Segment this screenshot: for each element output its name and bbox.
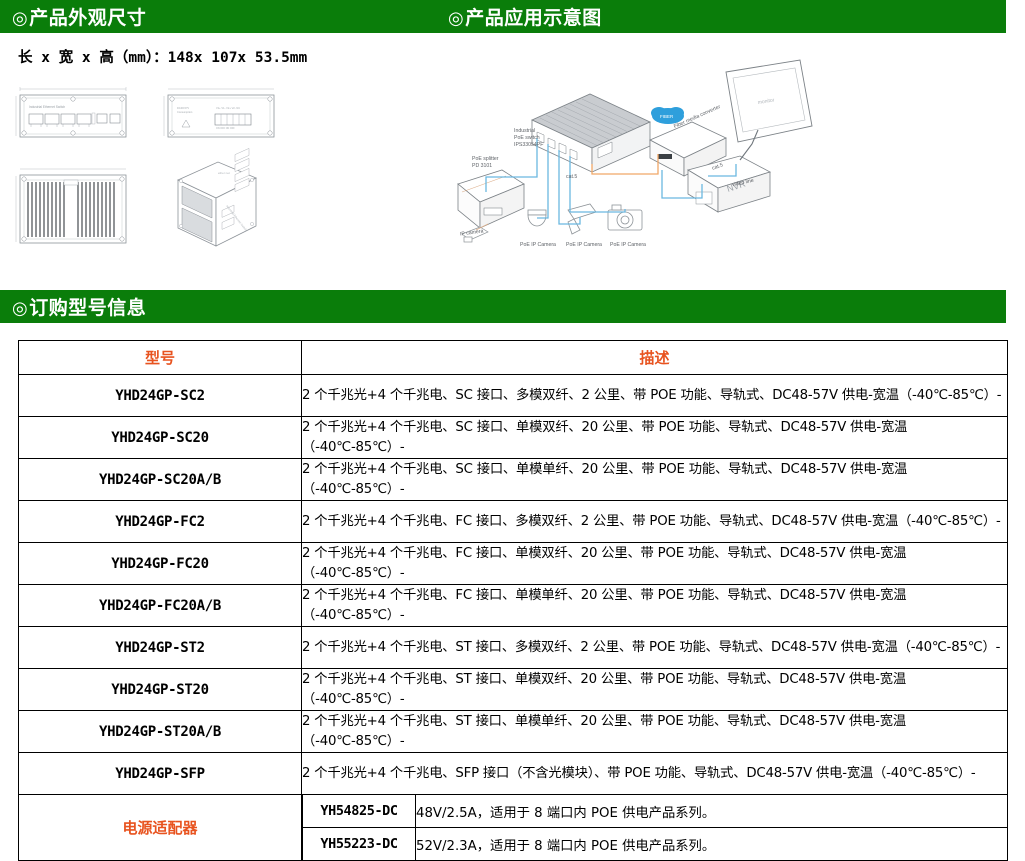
cell-model: YHD24GP-ST20A/B: [19, 711, 302, 753]
adapter-subtable: YH54825-DC 48V/2.5A，适用于 8 端口内 POE 供电产品系列…: [302, 795, 1007, 860]
cell-desc: 2 个千兆光+4 个千兆电、ST 接口、多模双纤、2 公里、带 POE 功能、导…: [302, 627, 1008, 669]
cell-model: YHD24GP-SC2: [19, 375, 302, 417]
cell-desc: 2 个千兆光+4 个千兆电、FC 接口、多模双纤、2 公里、带 POE 功能、导…: [302, 501, 1008, 543]
cell-adapter-model: YH54825-DC: [303, 795, 416, 828]
cell-model: YHD24GP-SFP: [19, 753, 302, 795]
svg-text:Industrial Ethernet Switch: Industrial Ethernet Switch: [29, 105, 65, 109]
table-row: YHD24GP-SFP2 个千兆光+4 个千兆电、SFP 接口（不含光模块）、带…: [19, 753, 1008, 795]
front-view-drawing: Industrial Ethernet Switch: [12, 84, 132, 146]
cell-model: YHD24GP-ST2: [19, 627, 302, 669]
svg-text:FIBER: FIBER: [660, 114, 674, 119]
adapter-row: YH54825-DC 48V/2.5A，适用于 8 端口内 POE 供电产品系列…: [303, 795, 1008, 828]
cell-desc: 2 个千兆光+4 个千兆电、SC 接口、多模双纤、2 公里、带 POE 功能、导…: [302, 375, 1008, 417]
table-row: YHD24GP-ST22 个千兆光+4 个千兆电、ST 接口、多模双纤、2 公里…: [19, 627, 1008, 669]
cell-model: YHD24GP-SC20A/B: [19, 459, 302, 501]
product-drawings: Industrial Ethernet Switch DC48-57V Cons…: [12, 84, 280, 252]
cell-model: YHD24GP-FC20A/B: [19, 585, 302, 627]
application-topology-svg: FIBER monitor: [440, 52, 860, 257]
cell-desc: 2 个千兆光+4 个千兆电、SC 接口、单模单纤、20 公里、带 POE 功能、…: [302, 459, 1008, 501]
cell-model: YHD24GP-FC2: [19, 501, 302, 543]
svg-text:V1+ V1- V2+ V2- NC: V1+ V1- V2+ V2- NC: [216, 106, 240, 110]
table-row-adapter: 电源适配器 YH54825-DC 48V/2.5A，适用于 8 端口内 POE …: [19, 795, 1008, 861]
cell-adapter-desc: 48V/2.5A，适用于 8 端口内 POE 供电产品系列。: [416, 795, 1008, 828]
cell-adapter-desc: 52V/2.3A，适用于 8 端口内 POE 供电产品系列。: [416, 828, 1008, 861]
diagram-label-camera2: PoE IP Camera: [566, 242, 602, 248]
cell-adapter-label: 电源适配器: [19, 795, 302, 861]
table-row: YHD24GP-FC202 个千兆光+4 个千兆电、FC 接口、单模双纤、20 …: [19, 543, 1008, 585]
svg-text:ether net: ether net: [218, 171, 230, 175]
column-header-model: 型号: [19, 341, 302, 375]
ring-icon: ◎: [448, 8, 464, 29]
table-row: YHD24GP-SC22 个千兆光+4 个千兆电、SC 接口、多模双纤、2 公里…: [19, 375, 1008, 417]
poe-switch-shape: [532, 94, 650, 172]
table-header-row: 型号 描述: [19, 341, 1008, 375]
table-row: YHD24GP-FC20A/B2 个千兆光+4 个千兆电、FC 接口、单模单纤、…: [19, 585, 1008, 627]
svg-text:ON OFF ON OFF: ON OFF ON OFF: [216, 127, 235, 130]
cell-desc: 2 个千兆光+4 个千兆电、SC 接口、单模双纤、20 公里、带 POE 功能、…: [302, 417, 1008, 459]
ordering-table-wrapper: 型号 描述 YHD24GP-SC22 个千兆光+4 个千兆电、SC 接口、多模双…: [18, 340, 1008, 861]
table-row: YHD24GP-SC20A/B2 个千兆光+4 个千兆电、SC 接口、单模单纤、…: [19, 459, 1008, 501]
section-title-ordering-label: 订购型号信息: [29, 297, 146, 319]
table-row: YHD24GP-FC22 个千兆光+4 个千兆电、FC 接口、多模双纤、2 公里…: [19, 501, 1008, 543]
rear-view-drawing: DC48-57V Consumption V1+ V1- V2+ V2- NC …: [160, 84, 280, 146]
diagram-label-pd3101: PD 3101: [472, 163, 492, 169]
cell-desc: 2 个千兆光+4 个千兆电、ST 接口、单模双纤、20 公里、带 POE 功能、…: [302, 669, 1008, 711]
column-header-desc: 描述: [302, 341, 1008, 375]
ordering-table: 型号 描述 YHD24GP-SC22 个千兆光+4 个千兆电、SC 接口、多模双…: [18, 340, 1008, 861]
cell-adapter-model: YH55223-DC: [303, 828, 416, 861]
adapter-row: YH55223-DC 52V/2.3A，适用于 8 端口内 POE 供电产品系列…: [303, 828, 1008, 861]
svg-text:Consumption: Consumption: [177, 110, 193, 114]
diagram-label-poe-switch: PoE switch: [514, 135, 540, 141]
svg-text:DC48-57V: DC48-57V: [177, 106, 189, 110]
diagram-label-model: IPS33054PF: [514, 142, 543, 148]
diagram-label-camera1: PoE IP Camera: [520, 242, 556, 248]
cell-desc: 2 个千兆光+4 个千兆电、ST 接口、单模单纤、20 公里、带 POE 功能、…: [302, 711, 1008, 753]
section-title-ordering: ◎订购型号信息: [12, 293, 146, 320]
camera-dslr-shape: [608, 205, 642, 230]
application-diagram: FIBER monitor: [440, 52, 1000, 267]
cell-model: YHD24GP-ST20: [19, 669, 302, 711]
poe-splitter-shape: [458, 170, 524, 228]
cell-model: YHD24GP-SC20: [19, 417, 302, 459]
section-title-appearance: ◎产品外观尺寸: [12, 3, 146, 30]
cell-adapter-subtable: YH54825-DC 48V/2.5A，适用于 8 端口内 POE 供电产品系列…: [302, 795, 1008, 861]
table-row: YHD24GP-ST202 个千兆光+4 个千兆电、ST 接口、单模双纤、20 …: [19, 669, 1008, 711]
section-title-application-label: 产品应用示意图: [465, 7, 602, 29]
section-title-application: ◎产品应用示意图: [448, 3, 602, 30]
cell-desc: 2 个千兆光+4 个千兆电、FC 接口、单模双纤、20 公里、带 POE 功能、…: [302, 543, 1008, 585]
diagram-label-camera3: PoE IP Camera: [610, 242, 646, 248]
cell-model: YHD24GP-FC20: [19, 543, 302, 585]
table-row: YHD24GP-SC202 个千兆光+4 个千兆电、SC 接口、单模双纤、20 …: [19, 417, 1008, 459]
monitor-shape: monitor: [726, 60, 812, 142]
camera-bullet-shape: [568, 204, 596, 234]
cell-desc: 2 个千兆光+4 个千兆电、SFP 接口（不含光模块）、带 POE 功能、导轨式…: [302, 753, 1008, 795]
section-title-appearance-label: 产品外观尺寸: [29, 7, 146, 29]
ring-icon: ◎: [12, 298, 28, 319]
ordering-section-band: [0, 290, 1006, 323]
cell-desc: 2 个千兆光+4 个千兆电、FC 接口、单模单纤、20 公里、带 POE 功能、…: [302, 585, 1008, 627]
diagram-label-poe-splitter: PoE splitter: [472, 156, 499, 162]
isometric-view-drawing: ether net Industrial Ethernet Switch: [160, 146, 280, 256]
side-fin-view-drawing: [12, 164, 132, 248]
ring-icon: ◎: [12, 8, 28, 29]
diagram-label-cat5-left: cat.5: [566, 174, 577, 180]
diagram-label-industrial: Industrial: [514, 128, 535, 134]
dimension-text: 长 x 宽 x 高（mm）：148x 107x 53.5mm: [18, 46, 307, 67]
table-row: YHD24GP-ST20A/B2 个千兆光+4 个千兆电、ST 接口、单模单纤、…: [19, 711, 1008, 753]
